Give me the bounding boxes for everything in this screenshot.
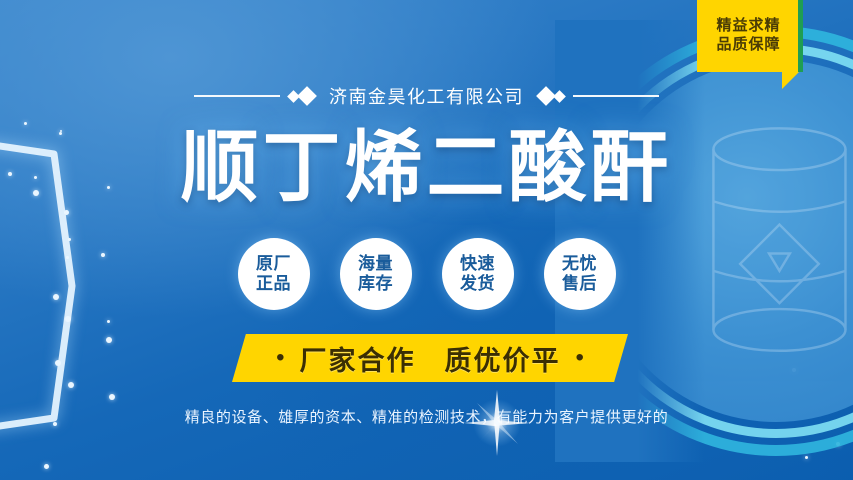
diamond-group-right (539, 89, 564, 103)
slogan-bullet-left: • (276, 346, 284, 370)
page-title: 顺丁烯二酸酐 (0, 128, 853, 206)
feature-badge-genuine: 原厂 正品 (238, 238, 310, 310)
feature-badge-line-1: 原厂 (256, 255, 291, 274)
feature-badge-stock: 海量 库存 (340, 238, 412, 310)
company-name: 济南金昊化工有限公司 (323, 83, 530, 109)
corner-badge-green-edge (798, 0, 803, 72)
feature-badge-line-2: 库存 (358, 275, 393, 294)
slogan-text: 厂家合作 质优价平 (300, 339, 561, 378)
rule-left (194, 95, 280, 97)
diamond-small-right-icon (553, 90, 566, 103)
feature-badge-line-1: 快速 (460, 255, 495, 274)
feature-badge-list: 原厂 正品 海量 库存 快速 发货 无忧 售后 (0, 238, 853, 310)
feature-badge-line-2: 正品 (256, 275, 291, 294)
tagline-text: 精良的设备、雄厚的资本、精准的检测技术，有能力为客户提供更好的 (0, 406, 853, 427)
rule-right (573, 95, 659, 97)
feature-badge-line-2: 售后 (562, 275, 597, 294)
slogan-bullet-right: • (576, 346, 584, 370)
feature-badge-line-2: 发货 (460, 275, 495, 294)
company-name-row: 济南金昊化工有限公司 (0, 80, 853, 112)
promo-banner: 精益求精 品质保障 济南金昊化工有限公司 顺丁烯二酸酐 原厂 正品 海量 库存 … (0, 0, 853, 480)
feature-badge-aftersales: 无忧 售后 (544, 238, 616, 310)
corner-badge-line-1: 精益求精 (716, 18, 780, 35)
feature-badge-line-1: 海量 (358, 255, 393, 274)
diamond-group-left (289, 89, 314, 103)
diamond-large-left-icon (297, 86, 317, 106)
corner-badge-line-2: 品质保障 (716, 37, 780, 54)
feature-badge-shipping: 快速 发货 (442, 238, 514, 310)
slogan-banner: • 厂家合作 质优价平 • (232, 334, 628, 382)
corner-quality-badge: 精益求精 品质保障 (697, 0, 800, 72)
feature-badge-line-1: 无忧 (562, 255, 597, 274)
